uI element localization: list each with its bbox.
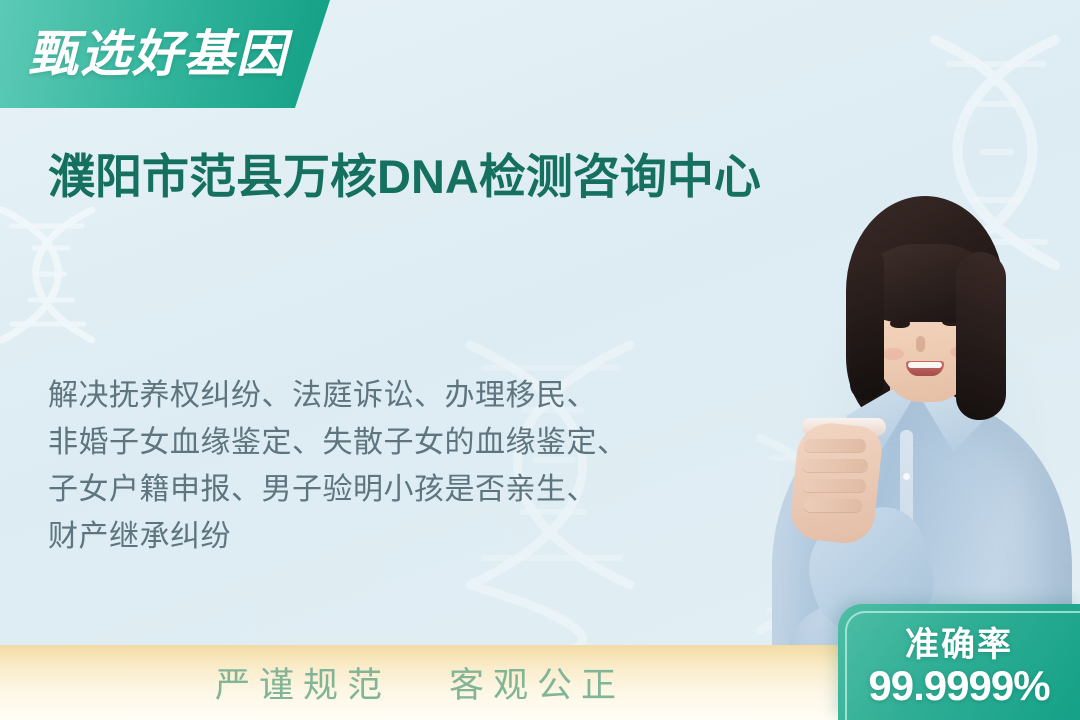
- description-line: 解决抚养权纠纷、法庭诉讼、办理移民、: [48, 372, 748, 419]
- description-line: 非婚子女血缘鉴定、失散子女的血缘鉴定、: [48, 419, 748, 466]
- slogan-impartial: 客观公正: [449, 657, 625, 708]
- slogan-group: 严谨规范 客观公正: [0, 645, 840, 720]
- promo-banner: 甄选好基因 濮阳市范县万核DNA检测咨询中心 解决抚养权纠纷、法庭诉讼、办理移民…: [0, 0, 1080, 720]
- description-line: 财产继承纠纷: [48, 513, 748, 560]
- description-line: 子女户籍申报、男子验明小孩是否亲生、: [48, 466, 748, 513]
- finger: [802, 459, 868, 472]
- teeth: [908, 362, 942, 368]
- accuracy-badge-value: 99.9999%: [838, 662, 1080, 710]
- nose: [916, 336, 925, 352]
- slogan-rigorous: 严谨规范: [215, 657, 391, 708]
- brand-ribbon-label: 甄选好基因: [28, 24, 308, 84]
- accuracy-badge: 准确率 99.9999%: [838, 604, 1080, 720]
- finger: [802, 479, 866, 492]
- finger: [804, 499, 862, 512]
- finger: [804, 439, 866, 452]
- brand-ribbon: 甄选好基因: [0, 0, 330, 108]
- accuracy-badge-label: 准确率: [838, 617, 1080, 666]
- shirt-button: [903, 473, 910, 480]
- cheek-left: [882, 348, 904, 360]
- service-description: 解决抚养权纠纷、法庭诉讼、办理移民、 非婚子女血缘鉴定、失散子女的血缘鉴定、 子…: [48, 372, 748, 560]
- hair-side-left: [850, 250, 884, 400]
- dna-helix-icon: [0, 200, 152, 390]
- hair-side-right: [956, 252, 1006, 420]
- page-title: 濮阳市范县万核DNA检测咨询中心: [48, 148, 838, 206]
